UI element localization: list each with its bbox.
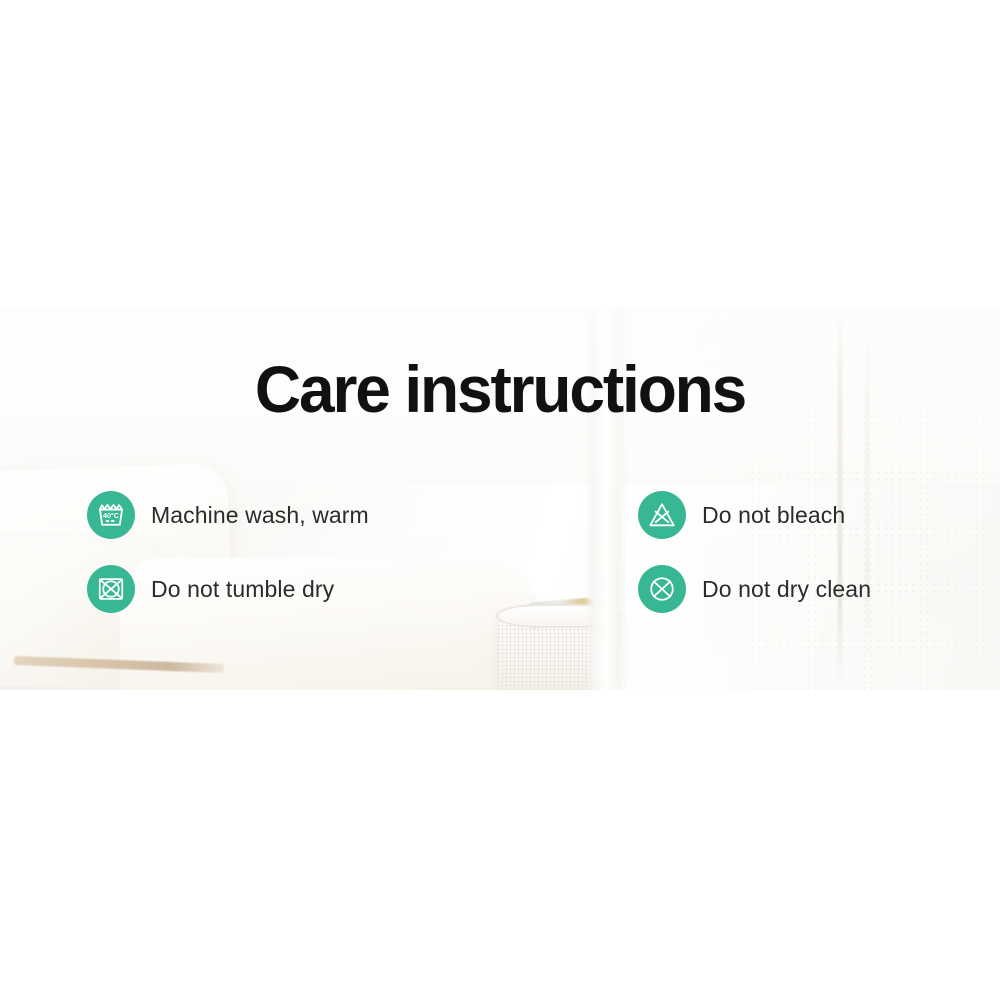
care-icon-grid: 40°C Machine wash, warm (0, 478, 1000, 626)
care-row-2: Do not tumble dry Do not dry clean (0, 552, 1000, 626)
page-title: Care instructions (15, 356, 985, 422)
care-instructions-banner: Care instructions 40°C (0, 308, 1000, 690)
care-item-machine-wash-warm: 40°C Machine wash, warm (0, 491, 318, 539)
banner-content: Care instructions 40°C (0, 308, 1000, 690)
care-item-do-not-tumble-dry: Do not tumble dry (0, 565, 318, 613)
machine-wash-temperature: 40°C (103, 512, 119, 520)
page-root: Care instructions 40°C (0, 0, 1000, 1000)
do-not-tumble-dry-icon (87, 565, 135, 613)
care-item-do-not-dry-clean: Do not dry clean (318, 565, 638, 613)
care-item-line-dry: Line dry (638, 565, 1000, 613)
care-row-1: 40°C Machine wash, warm (0, 478, 1000, 552)
care-item-do-not-iron: Do not iron (638, 491, 1000, 539)
care-item-do-not-bleach: Do not bleach (318, 491, 638, 539)
machine-wash-warm-icon: 40°C (87, 491, 135, 539)
care-item-label: Do not tumble dry (151, 576, 334, 603)
